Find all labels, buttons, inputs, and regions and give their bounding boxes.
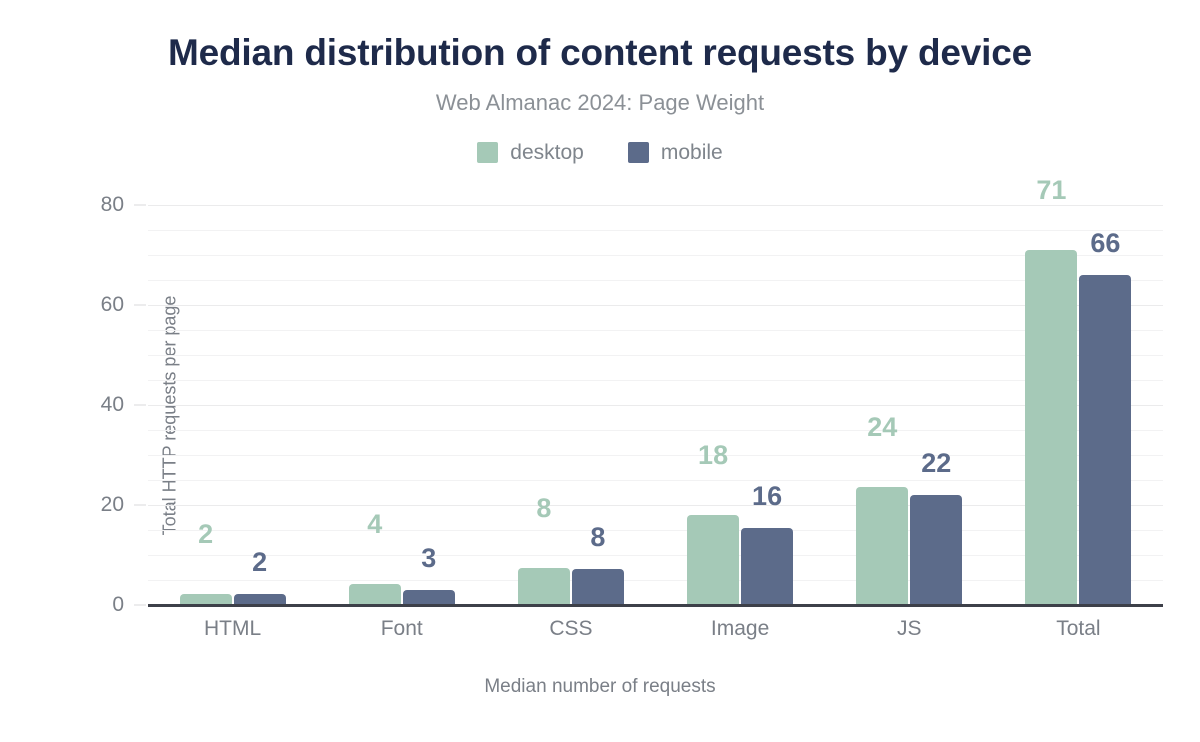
y-tick-label: 80 bbox=[24, 193, 124, 217]
gridline-minor bbox=[148, 380, 1163, 381]
bar-value-label: 8 bbox=[558, 522, 638, 553]
gridline-minor bbox=[148, 430, 1163, 431]
bar-total-mobile[interactable] bbox=[1079, 275, 1131, 605]
bar-css-desktop[interactable] bbox=[518, 568, 570, 605]
gridline-major bbox=[148, 505, 1163, 506]
x-tick-label-css: CSS bbox=[481, 617, 661, 641]
bar-value-label: 24 bbox=[842, 412, 922, 443]
bar-value-label: 16 bbox=[727, 481, 807, 512]
bar-value-label: 18 bbox=[673, 440, 753, 471]
legend-label: desktop bbox=[510, 142, 584, 163]
y-tick-mark bbox=[134, 405, 146, 406]
gridline-major bbox=[148, 405, 1163, 406]
legend-item-mobile[interactable]: mobile bbox=[628, 142, 723, 163]
y-tick-mark bbox=[134, 305, 146, 306]
x-tick-label-js: JS bbox=[819, 617, 999, 641]
y-tick-label: 40 bbox=[24, 393, 124, 417]
bar-group-js: 2422 bbox=[850, 205, 968, 605]
bar-font-mobile[interactable] bbox=[403, 590, 455, 605]
gridline-minor bbox=[148, 330, 1163, 331]
bar-group-css: 88 bbox=[512, 205, 630, 605]
gridline-minor bbox=[148, 280, 1163, 281]
gridline-minor bbox=[148, 455, 1163, 456]
bar-value-label: 4 bbox=[335, 509, 415, 540]
gridline-minor bbox=[148, 530, 1163, 531]
y-tick-label: 0 bbox=[24, 593, 124, 617]
bar-value-label: 71 bbox=[1011, 175, 1091, 206]
chart-title: Median distribution of content requests … bbox=[0, 32, 1200, 74]
bar-value-label: 2 bbox=[220, 547, 300, 578]
bar-js-mobile[interactable] bbox=[910, 495, 962, 605]
gridline-minor bbox=[148, 480, 1163, 481]
bar-image-desktop[interactable] bbox=[687, 515, 739, 605]
chart-legend: desktopmobile bbox=[0, 142, 1200, 163]
bar-group-image: 1816 bbox=[681, 205, 799, 605]
bar-font-desktop[interactable] bbox=[349, 584, 401, 605]
gridline-minor bbox=[148, 255, 1163, 256]
y-tick-mark bbox=[134, 605, 146, 606]
y-tick-label: 60 bbox=[24, 293, 124, 317]
gridline-minor bbox=[148, 580, 1163, 581]
y-tick-mark bbox=[134, 505, 146, 506]
plot-area: 224388181624227166 bbox=[148, 205, 1163, 605]
gridline-major bbox=[148, 305, 1163, 306]
x-tick-label-total: Total bbox=[988, 617, 1168, 641]
x-tick-label-html: HTML bbox=[143, 617, 323, 641]
bar-value-label: 3 bbox=[389, 543, 469, 574]
bar-css-mobile[interactable] bbox=[572, 569, 624, 605]
legend-label: mobile bbox=[661, 142, 723, 163]
x-axis-title: Median number of requests bbox=[0, 676, 1200, 698]
bar-group-html: 22 bbox=[174, 205, 292, 605]
bar-js-desktop[interactable] bbox=[856, 487, 908, 605]
y-tick-label: 20 bbox=[24, 493, 124, 517]
bar-value-label: 8 bbox=[504, 493, 584, 524]
bar-group-font: 43 bbox=[343, 205, 461, 605]
bar-image-mobile[interactable] bbox=[741, 528, 793, 605]
gridline-minor bbox=[148, 230, 1163, 231]
x-tick-label-image: Image bbox=[650, 617, 830, 641]
gridline-minor bbox=[148, 555, 1163, 556]
chart-subtitle: Web Almanac 2024: Page Weight bbox=[0, 90, 1200, 116]
gridline-minor bbox=[148, 355, 1163, 356]
legend-swatch-icon bbox=[477, 142, 498, 163]
bar-total-desktop[interactable] bbox=[1025, 250, 1077, 605]
x-tick-label-font: Font bbox=[312, 617, 492, 641]
bar-value-label: 22 bbox=[896, 448, 976, 479]
x-axis-line bbox=[148, 604, 1163, 607]
bar-value-label: 66 bbox=[1065, 228, 1145, 259]
chart-figure: Median distribution of content requests … bbox=[0, 0, 1200, 742]
legend-item-desktop[interactable]: desktop bbox=[477, 142, 584, 163]
bar-value-label: 2 bbox=[166, 519, 246, 550]
y-tick-mark bbox=[134, 205, 146, 206]
legend-swatch-icon bbox=[628, 142, 649, 163]
bar-group-total: 7166 bbox=[1019, 205, 1137, 605]
